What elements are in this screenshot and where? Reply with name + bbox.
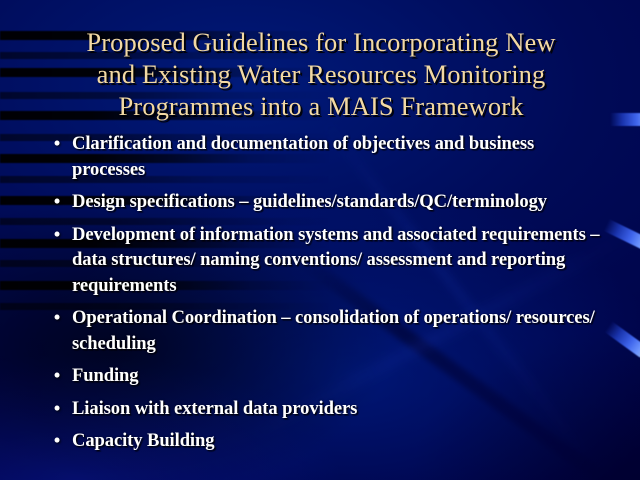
list-item-label: Capacity Building [72, 428, 602, 454]
bullet-dot-icon: • [42, 131, 72, 157]
bullet-list: • Clarification and documentation of obj… [42, 131, 602, 461]
list-item: • Liaison with external data providers [42, 396, 602, 422]
slide-content: Proposed Guidelines for Incorporating Ne… [0, 0, 640, 480]
presentation-slide: Proposed Guidelines for Incorporating Ne… [0, 0, 640, 480]
bullet-dot-icon: • [42, 428, 72, 454]
bullet-dot-icon: • [42, 305, 72, 331]
list-item-label: Operational Coordination – consolidation… [72, 305, 602, 356]
bullet-dot-icon: • [42, 222, 72, 248]
bullet-dot-icon: • [42, 189, 72, 215]
list-item-label: Funding [72, 363, 602, 389]
list-item: • Clarification and documentation of obj… [42, 131, 602, 182]
bullet-dot-icon: • [42, 396, 72, 422]
list-item: • Funding [42, 363, 602, 389]
list-item-label: Clarification and documentation of objec… [72, 131, 602, 182]
bullet-dot-icon: • [42, 363, 72, 389]
list-item: • Design specifications – guidelines/sta… [42, 189, 602, 215]
list-item-label: Development of information systems and a… [72, 222, 602, 299]
list-item-label: Design specifications – guidelines/stand… [72, 189, 602, 215]
list-item: • Operational Coordination – consolidati… [42, 305, 602, 356]
list-item-label: Liaison with external data providers [72, 396, 602, 422]
list-item: • Capacity Building [42, 428, 602, 454]
list-item: • Development of information systems and… [42, 222, 602, 299]
slide-title: Proposed Guidelines for Incorporating Ne… [38, 26, 604, 122]
